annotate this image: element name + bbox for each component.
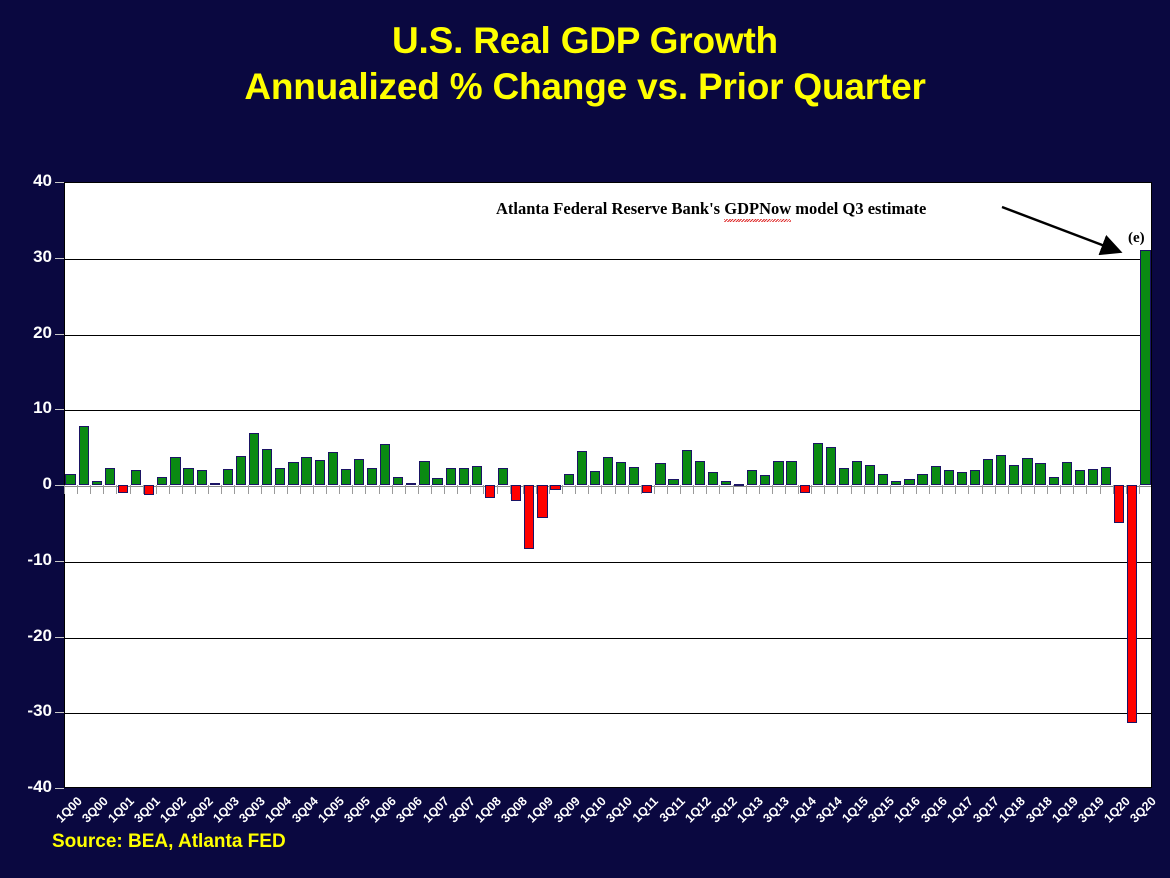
- x-axis-tick-mark: [90, 485, 91, 494]
- gdpnow-annotation: Atlanta Federal Reserve Bank's GDPNow mo…: [496, 199, 926, 219]
- bar-1Q04: [275, 468, 285, 485]
- x-axis-tick-mark: [313, 485, 314, 494]
- x-axis-tick-mark: [287, 485, 288, 494]
- y-axis-tick-mark: [55, 712, 64, 713]
- x-axis-tick-mark: [601, 485, 602, 494]
- x-axis-tick-mark: [746, 485, 747, 494]
- bar-1Q12: [695, 461, 705, 485]
- bar-4Q16: [944, 470, 954, 485]
- slide-canvas: U.S. Real GDP Growth Annualized % Change…: [0, 0, 1170, 878]
- bar-2Q04: [288, 462, 298, 485]
- x-axis-tick-mark: [379, 485, 380, 494]
- x-axis-tick-mark: [483, 485, 484, 494]
- bar-2Q10: [603, 457, 613, 485]
- bar-1Q07: [432, 478, 442, 485]
- bar-2Q09: [550, 485, 560, 490]
- y-axis-tick-label: 30: [8, 247, 52, 267]
- bar-2Q13: [760, 475, 770, 485]
- bar-1Q06: [380, 444, 390, 485]
- bar-1Q02: [170, 457, 180, 485]
- bar-4Q13: [786, 461, 796, 485]
- x-axis-tick-mark: [352, 485, 353, 494]
- bar-1Q00: [65, 474, 75, 485]
- bar-1Q01: [118, 485, 128, 493]
- x-axis-tick-mark: [837, 485, 838, 494]
- x-axis-tick-mark: [103, 485, 104, 494]
- x-axis-tick-mark: [798, 485, 799, 494]
- bar-2Q11: [655, 463, 665, 485]
- x-axis-tick-mark: [693, 485, 694, 494]
- x-axis-tick-mark: [680, 485, 681, 494]
- bar-2Q07: [446, 468, 456, 485]
- x-axis-tick-mark: [510, 485, 511, 494]
- bar-1Q08: [485, 485, 495, 498]
- bar-4Q19: [1101, 467, 1111, 485]
- x-axis-tick-mark: [719, 485, 720, 494]
- x-axis-tick-mark: [1008, 485, 1009, 494]
- bar-4Q10: [629, 467, 639, 485]
- bar-4Q11: [682, 450, 692, 485]
- bar-2Q02: [183, 468, 193, 485]
- bar-2Q00: [79, 426, 89, 485]
- x-axis-tick-mark: [824, 485, 825, 494]
- x-axis-tick-mark: [234, 485, 235, 494]
- zero-line: [65, 486, 1151, 487]
- y-axis-tick-label: -20: [8, 626, 52, 646]
- x-axis-tick-mark: [116, 485, 117, 494]
- x-axis-tick-mark: [759, 485, 760, 494]
- x-axis-tick-mark: [785, 485, 786, 494]
- bar-4Q14: [839, 468, 849, 485]
- bar-3Q15: [878, 474, 888, 485]
- x-axis-tick-mark: [706, 485, 707, 494]
- x-axis-tick-mark: [221, 485, 222, 494]
- x-axis-tick-mark: [877, 485, 878, 494]
- bar-3Q00: [92, 481, 102, 485]
- x-axis-tick-mark: [261, 485, 262, 494]
- x-axis-tick-mark: [405, 485, 406, 494]
- bar-4Q07: [472, 466, 482, 485]
- x-axis-tick-mark: [811, 485, 812, 494]
- x-axis-tick-mark: [169, 485, 170, 494]
- title-line-2: Annualized % Change vs. Prior Quarter: [0, 64, 1170, 110]
- x-axis-tick-mark: [431, 485, 432, 494]
- x-axis-tick-mark: [274, 485, 275, 494]
- x-axis-tick-mark: [942, 485, 943, 494]
- gridline: [65, 335, 1151, 336]
- bar-4Q17: [996, 455, 1006, 485]
- chart-plot-area: [64, 182, 1152, 788]
- x-axis-tick-mark: [156, 485, 157, 494]
- bar-2Q06: [393, 477, 403, 485]
- title-line-1: U.S. Real GDP Growth: [0, 18, 1170, 64]
- y-axis-tick-mark: [55, 409, 64, 410]
- x-axis-tick-mark: [444, 485, 445, 494]
- x-axis-tick-mark: [64, 485, 65, 494]
- bar-1Q14: [800, 485, 810, 493]
- x-axis-tick-mark: [1113, 485, 1114, 494]
- x-axis-tick-mark: [339, 485, 340, 494]
- x-axis-tick-mark: [300, 485, 301, 494]
- x-axis-tick-mark: [890, 485, 891, 494]
- x-axis-tick-mark: [968, 485, 969, 494]
- x-axis-tick-mark: [326, 485, 327, 494]
- x-axis-tick-mark: [1139, 485, 1140, 494]
- bar-3Q20: [1140, 250, 1150, 485]
- annotation-misspelled-word: GDPNow: [724, 199, 791, 219]
- bar-1Q20: [1114, 485, 1124, 523]
- bar-3Q13: [773, 461, 783, 485]
- bar-4Q15: [891, 481, 901, 485]
- y-axis-tick-mark: [55, 561, 64, 562]
- x-axis-tick-mark: [418, 485, 419, 494]
- bar-4Q01: [157, 477, 167, 485]
- x-axis-tick-mark: [575, 485, 576, 494]
- x-axis-tick-mark: [365, 485, 366, 494]
- gridline: [65, 410, 1151, 411]
- y-axis-tick-label: -30: [8, 701, 52, 721]
- bar-4Q09: [577, 451, 587, 485]
- y-axis-tick-label: -10: [8, 550, 52, 570]
- bar-3Q04: [301, 457, 311, 485]
- bar-1Q10: [590, 471, 600, 485]
- x-axis-tick-mark: [1060, 485, 1061, 494]
- x-axis-tick-mark: [77, 485, 78, 494]
- y-axis-tick-mark: [55, 258, 64, 259]
- bar-2Q03: [236, 456, 246, 485]
- y-axis-tick-mark: [55, 788, 64, 789]
- x-axis-tick-mark: [982, 485, 983, 494]
- bar-3Q07: [459, 468, 469, 485]
- bar-1Q15: [852, 461, 862, 485]
- bar-2Q08: [498, 468, 508, 485]
- x-axis-tick-mark: [864, 485, 865, 494]
- y-axis-tick-mark: [55, 182, 64, 183]
- annotation-prefix: Atlanta Federal Reserve Bank's: [496, 199, 724, 218]
- x-axis-tick-mark: [392, 485, 393, 494]
- bar-3Q11: [668, 479, 678, 485]
- x-axis-tick-mark: [182, 485, 183, 494]
- y-axis-tick-mark: [55, 334, 64, 335]
- bar-3Q19: [1088, 469, 1098, 485]
- bar-3Q10: [616, 462, 626, 485]
- x-axis-tick-mark: [549, 485, 550, 494]
- gridline: [65, 638, 1151, 639]
- x-axis-tick-mark: [523, 485, 524, 494]
- x-axis-tick-mark: [955, 485, 956, 494]
- x-axis-tick-mark: [995, 485, 996, 494]
- bar-1Q19: [1062, 462, 1072, 485]
- x-axis-tick-mark: [1086, 485, 1087, 494]
- x-axis-tick-mark: [562, 485, 563, 494]
- bar-3Q03: [249, 433, 259, 485]
- x-axis-tick-mark: [1126, 485, 1127, 494]
- bar-2Q17: [970, 470, 980, 485]
- bar-2Q20: [1127, 485, 1137, 723]
- bar-1Q16: [904, 479, 914, 485]
- bar-3Q06: [406, 483, 416, 485]
- bar-2Q14: [813, 443, 823, 485]
- bar-3Q01: [144, 485, 154, 495]
- x-axis-tick-mark: [654, 485, 655, 494]
- x-axis-tick-mark: [1021, 485, 1022, 494]
- bar-1Q03: [223, 469, 233, 485]
- y-axis-tick-label: 40: [8, 171, 52, 191]
- x-axis-tick-mark: [130, 485, 131, 494]
- bar-3Q05: [354, 459, 364, 485]
- x-axis-tick-mark: [903, 485, 904, 494]
- bar-3Q18: [1035, 463, 1045, 485]
- x-axis-tick-mark: [667, 485, 668, 494]
- gridline: [65, 713, 1151, 714]
- bar-4Q08: [524, 485, 534, 549]
- bar-3Q09: [564, 474, 574, 485]
- bar-4Q05: [367, 468, 377, 485]
- x-axis-tick-mark: [851, 485, 852, 494]
- gridline: [65, 259, 1151, 260]
- y-axis-tick-label: 10: [8, 398, 52, 418]
- bar-3Q08: [511, 485, 521, 501]
- estimate-tag: (e): [1128, 230, 1145, 247]
- x-axis-tick-mark: [470, 485, 471, 494]
- bar-4Q04: [315, 460, 325, 485]
- gridline: [65, 562, 1151, 563]
- bar-3Q02: [197, 470, 207, 485]
- x-axis-tick-mark: [497, 485, 498, 494]
- x-axis-tick-mark: [536, 485, 537, 494]
- bar-4Q00: [105, 468, 115, 485]
- y-axis-tick-mark: [55, 637, 64, 638]
- y-axis-tick-mark: [55, 485, 64, 486]
- bar-1Q09: [537, 485, 547, 518]
- bar-4Q03: [262, 449, 272, 485]
- bar-2Q19: [1075, 470, 1085, 485]
- x-axis-tick-mark: [772, 485, 773, 494]
- bar-2Q15: [865, 465, 875, 485]
- y-axis-tick-label: 0: [8, 474, 52, 494]
- bar-3Q17: [983, 459, 993, 485]
- bar-4Q12: [734, 484, 744, 486]
- bar-1Q05: [328, 452, 338, 485]
- x-axis-tick-mark: [1034, 485, 1035, 494]
- bar-2Q16: [917, 474, 927, 485]
- bar-2Q01: [131, 470, 141, 485]
- bar-4Q06: [419, 461, 429, 485]
- y-axis-tick-label: 20: [8, 323, 52, 343]
- x-axis-tick-mark: [615, 485, 616, 494]
- page-title: U.S. Real GDP Growth Annualized % Change…: [0, 18, 1170, 110]
- y-axis-tick-label: -40: [8, 777, 52, 797]
- bar-2Q05: [341, 469, 351, 485]
- bar-1Q17: [957, 472, 967, 485]
- bar-2Q12: [708, 472, 718, 485]
- x-axis-tick-mark: [588, 485, 589, 494]
- x-axis-tick-mark: [457, 485, 458, 494]
- x-axis-tick-mark: [733, 485, 734, 494]
- x-axis-tick-mark: [1100, 485, 1101, 494]
- bar-4Q18: [1049, 477, 1059, 485]
- bar-2Q18: [1022, 458, 1032, 485]
- x-axis-tick-mark: [1047, 485, 1048, 494]
- bar-1Q18: [1009, 465, 1019, 485]
- x-axis-tick-mark: [248, 485, 249, 494]
- annotation-suffix: model Q3 estimate: [791, 199, 926, 218]
- x-axis-tick-mark: [143, 485, 144, 494]
- source-note: Source: BEA, Atlanta FED: [52, 831, 286, 853]
- x-axis-tick-mark: [628, 485, 629, 494]
- x-axis-tick-mark: [195, 485, 196, 494]
- x-axis-tick-mark: [916, 485, 917, 494]
- bar-3Q14: [826, 447, 836, 485]
- bar-1Q11: [642, 485, 652, 493]
- bar-4Q02: [210, 483, 220, 485]
- bar-3Q12: [721, 481, 731, 485]
- x-axis-tick-mark: [641, 485, 642, 494]
- bar-1Q13: [747, 470, 757, 485]
- x-axis-tick-mark: [208, 485, 209, 494]
- x-axis-tick-mark: [929, 485, 930, 494]
- x-axis-tick-mark: [1073, 485, 1074, 494]
- bar-3Q16: [931, 466, 941, 485]
